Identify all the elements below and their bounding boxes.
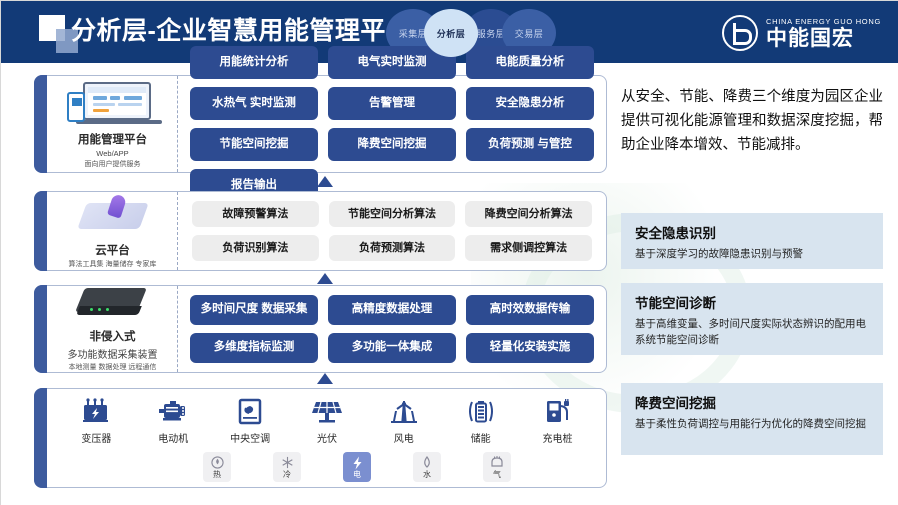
equipment-item[interactable]: 变压器 [63,397,129,445]
platform-caption: 用能管理平台 Web/APP 面向用户提供服务 [48,76,178,172]
ev-charger-icon [542,397,572,427]
energy-type-label: 水 [423,470,431,479]
info-card-energy-saving: 节能空间诊断 基于高维变量、多时间尺度实际状态辨识的配用电系统节能空间诊断 [621,283,883,355]
info-card-title: 降费空间挖掘 [635,392,871,412]
device-button[interactable]: 高时效数据传输 [466,295,594,325]
stage-ellipse-analysis[interactable]: 分析层 [424,9,478,57]
energy-type-heat[interactable]: 热 [203,452,231,482]
flow-arrow-up-icon [317,373,333,384]
motor-icon [157,397,189,427]
device-button-grid: 多时间尺度 数据采集 高精度数据处理 高时效数据传输 多维度指标监测 多功能一体… [178,286,606,372]
cloud-caption: 云平台 算法工具集 海量储存 专家库 [48,192,178,270]
info-card-cost-reduction: 降费空间挖掘 基于柔性负荷调控与用能行为优化的降费空间挖掘 [621,383,883,455]
platform-button[interactable]: 水热气 实时监测 [190,87,318,120]
slide-body: 用能管理平台 Web/APP 面向用户提供服务 用能统计分析 电气实时监测 电能… [1,63,898,505]
description-text: 从安全、节能、降费三个维度为园区企业提供可视化能源管理和数据深度挖掘，帮助企业降… [621,85,883,157]
platform-title: 用能管理平台 [78,131,147,147]
info-card-title: 安全隐患识别 [635,222,871,242]
equipment-label: 风电 [394,430,414,445]
energy-type-cold[interactable]: 冷 [273,452,301,482]
algorithm-button[interactable]: 需求侧调控算法 [465,235,592,261]
cold-icon [281,455,294,470]
device-button[interactable]: 轻量化安装实施 [466,333,594,363]
electricity-icon [351,455,364,470]
water-icon [421,455,433,470]
equipment-label: 电动机 [158,430,188,445]
device-row: 非侵入式 多功能数据采集装置 本地测量 数据处理 远程通信 多时间尺度 数据采集… [34,285,607,373]
solar-panel-icon [310,397,344,427]
platform-button[interactable]: 用能统计分析 [190,46,318,79]
device-title: 非侵入式 [90,328,136,344]
algorithm-button[interactable]: 负荷识别算法 [192,235,319,261]
heat-icon [211,455,224,470]
platform-button[interactable]: 安全隐患分析 [466,87,594,120]
equipment-label: 储能 [471,430,491,445]
equipment-item[interactable]: 风电 [371,397,437,445]
laptop-phone-icon [67,80,159,126]
slide-root: 分析层-企业智慧用能管理平台 采集层 服务层 交易层 分析层 CHINA ENE… [0,0,898,505]
info-card-body: 基于柔性负荷调控与用能行为优化的降费空间挖掘 [635,416,871,432]
algorithm-button[interactable]: 负荷预测算法 [329,235,456,261]
equipment-label: 变压器 [81,430,111,445]
platform-button[interactable]: 节能空间挖掘 [190,128,318,161]
cloud-title: 云平台 [95,242,130,258]
battery-storage-icon [466,397,496,427]
platform-row: 用能管理平台 Web/APP 面向用户提供服务 用能统计分析 电气实时监测 电能… [34,75,607,173]
energy-type-list: 热 冷 电 [58,452,596,482]
company-logo-cn: 中能国宏 [766,28,881,50]
platform-row-accent [34,75,47,173]
platform-button[interactable]: 负荷预测 与管控 [466,128,594,161]
equipment-label: 中央空调 [230,430,270,445]
cloud-row: 云平台 算法工具集 海量储存 专家库 故障预警算法 节能空间分析算法 降费空间分… [34,191,607,271]
equipment-item[interactable]: 光伏 [294,397,360,445]
device-button[interactable]: 高精度数据处理 [328,295,456,325]
company-logo: CHINA ENERGY GUO HONG 中能国宏 [722,13,881,53]
algorithm-button[interactable]: 故障预警算法 [192,201,319,227]
device-subtitle-2: 本地测量 数据处理 远程通信 [69,362,157,372]
wind-turbine-icon [388,397,420,427]
energy-type-electricity[interactable]: 电 [343,452,371,482]
platform-subtitle: Web/APP [96,149,128,158]
flow-arrow-up-icon [317,273,333,284]
energy-type-gas[interactable]: 气 [483,452,511,482]
cloud-button-grid: 故障预警算法 节能空间分析算法 降费空间分析算法 负荷识别算法 负荷预测算法 需… [178,192,606,270]
energy-type-label: 热 [213,470,221,479]
equipment-label: 光伏 [317,430,337,445]
device-subtitle: 多功能数据采集装置 [68,346,158,361]
equipment-label: 充电桩 [542,430,572,445]
equipment-item[interactable]: 电动机 [140,397,206,445]
energy-type-label: 冷 [283,470,291,479]
info-card-body: 基于高维变量、多时间尺度实际状态辨识的配用电系统节能空间诊断 [635,316,871,348]
company-logo-icon [722,15,758,51]
equipment-row-accent [34,388,47,488]
device-button[interactable]: 多维度指标监测 [190,333,318,363]
page-header: 分析层-企业智慧用能管理平台 采集层 服务层 交易层 分析层 CHINA ENE… [1,1,898,63]
transformer-icon [81,397,111,427]
info-card-body: 基于深度学习的故障隐患识别与预警 [635,246,871,262]
info-card-title: 节能空间诊断 [635,292,871,312]
energy-type-label: 气 [493,470,501,479]
algorithm-button[interactable]: 降费空间分析算法 [465,201,592,227]
company-logo-en: CHINA ENERGY GUO HONG [766,17,881,26]
platform-button[interactable]: 降费空间挖掘 [328,128,456,161]
page-title: 分析层-企业智慧用能管理平台 [71,13,411,49]
cloud-platform-icon [76,193,150,237]
flow-arrow-up-icon [317,176,333,187]
device-button[interactable]: 多功能一体集成 [328,333,456,363]
equipment-list: 变压器 [58,397,596,451]
cloud-subtitle: 算法工具集 海量储存 专家库 [69,259,157,269]
equipment-item[interactable]: 充电桩 [524,397,590,445]
data-collector-device-icon [76,286,150,323]
platform-button[interactable]: 电能质量分析 [466,46,594,79]
device-button[interactable]: 多时间尺度 数据采集 [190,295,318,325]
energy-type-water[interactable]: 水 [413,452,441,482]
device-row-accent [34,285,47,373]
energy-type-label: 电 [353,470,361,479]
cloud-row-accent [34,191,47,271]
device-caption: 非侵入式 多功能数据采集装置 本地测量 数据处理 远程通信 [48,286,178,372]
gas-icon [490,455,504,470]
platform-button-grid: 用能统计分析 电气实时监测 电能质量分析 水热气 实时监测 告警管理 安全隐患分… [178,76,606,172]
hvac-icon [236,397,264,427]
platform-subtitle-2: 面向用户提供服务 [85,159,141,169]
equipment-item[interactable]: 储能 [448,397,514,445]
info-card-safety: 安全隐患识别 基于深度学习的故障隐患识别与预警 [621,213,883,269]
equipment-item[interactable]: 中央空调 [217,397,283,445]
algorithm-button[interactable]: 节能空间分析算法 [329,201,456,227]
platform-button[interactable]: 告警管理 [328,87,456,120]
equipment-row: 变压器 [34,388,607,488]
